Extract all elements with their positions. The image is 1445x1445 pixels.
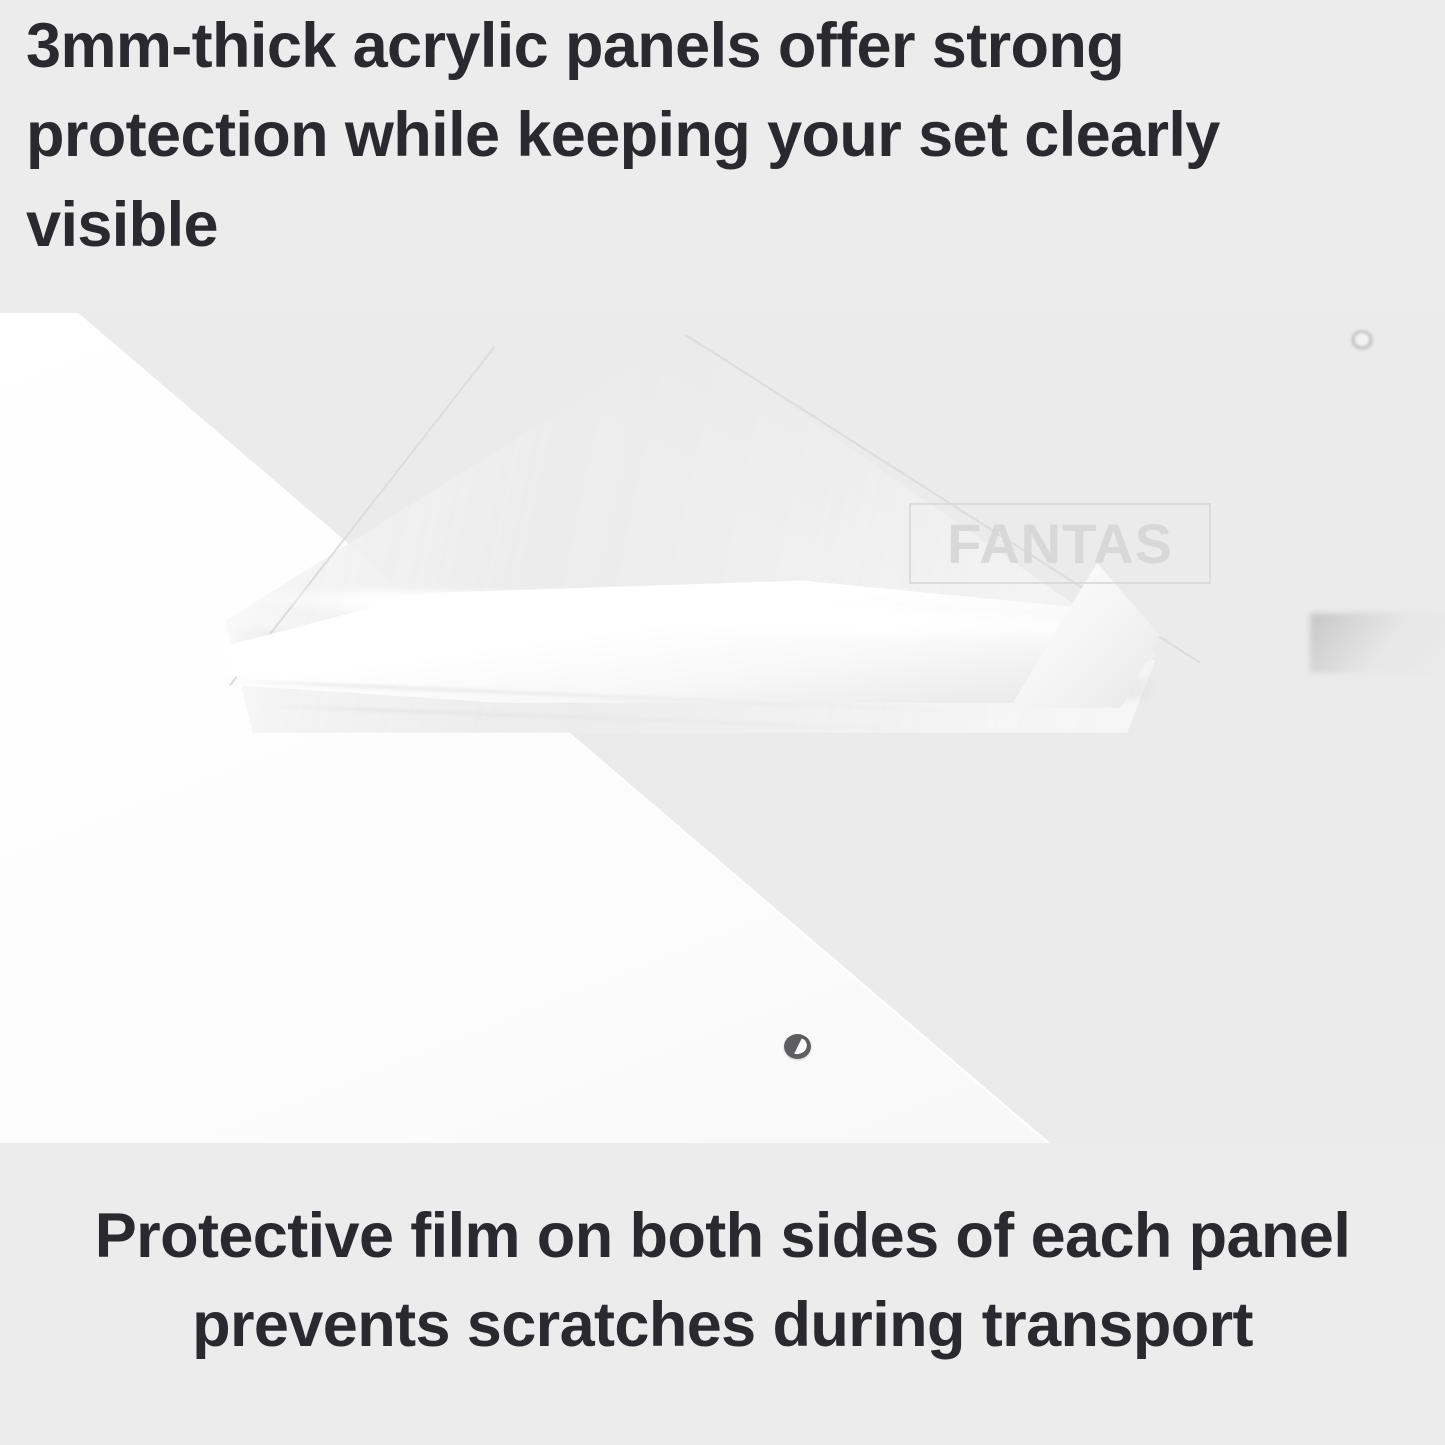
bottom-caption-text: Protective film on both sides of each pa…	[0, 1192, 1445, 1371]
mounting-hole-bottom-icon	[784, 1034, 811, 1059]
acrylic-panel	[0, 313, 1445, 1143]
panel-corner-shadow	[1310, 613, 1445, 673]
product-photo: FANTAS	[0, 313, 1445, 1143]
top-caption-text: 3mm-thick acrylic panels offer strong pr…	[26, 2, 1416, 270]
mounting-hole-top-right-icon	[1351, 330, 1373, 350]
product-feature-card: 3mm-thick acrylic panels offer strong pr…	[0, 0, 1445, 1445]
